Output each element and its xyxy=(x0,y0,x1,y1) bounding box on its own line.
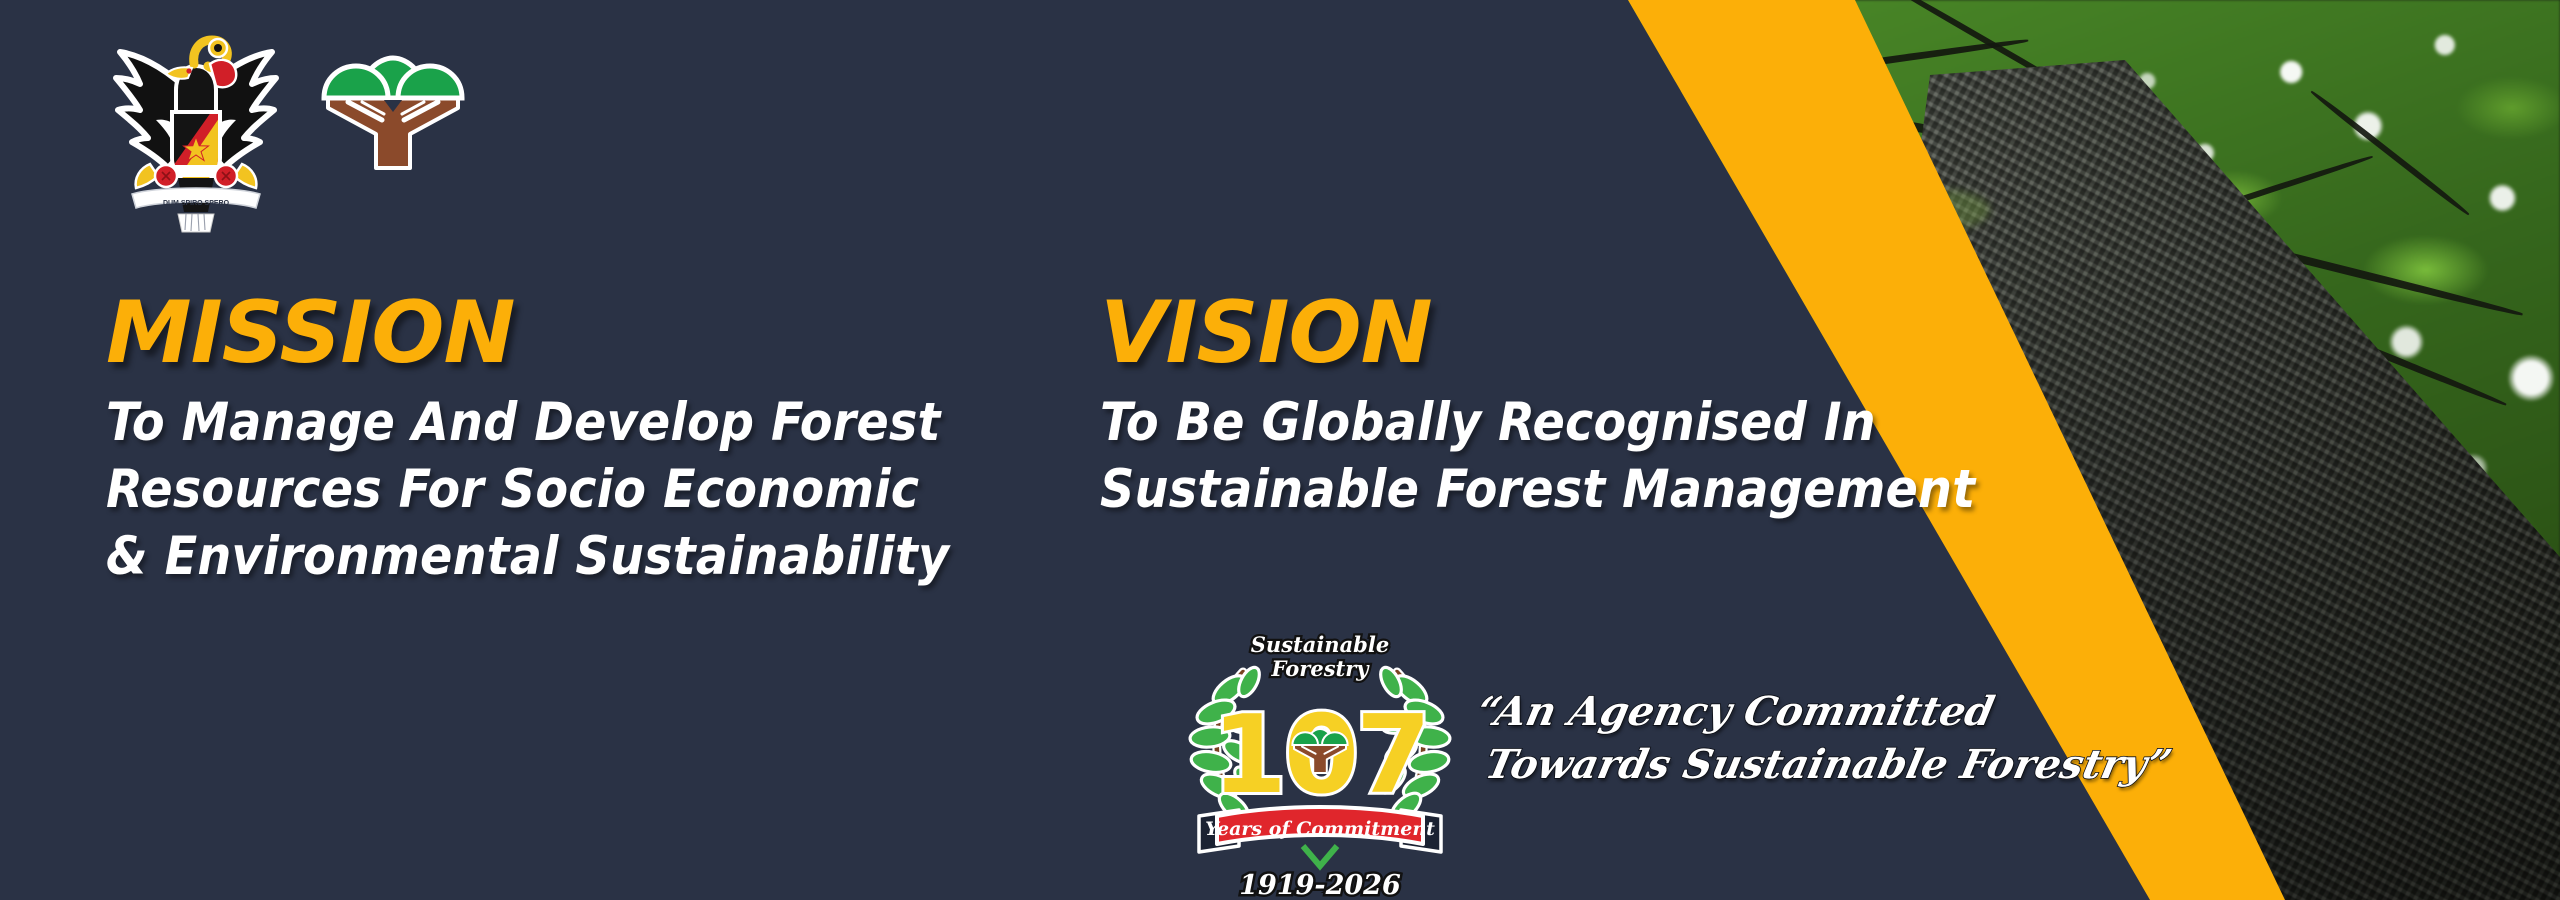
tagline: “An Agency Committed Towards Sustainable… xyxy=(1478,686,2098,792)
tagline-line-2: Towards Sustainable Forestry” xyxy=(1480,739,2103,792)
vision-line-2: Sustainable Forest Management xyxy=(1100,457,2120,524)
emblem-script-line-2: Forestry xyxy=(1271,656,1371,681)
mission-line-2: Resources For Socio Economic xyxy=(106,457,1006,524)
crest-motto: DUM SPIRO SPERO xyxy=(163,200,230,207)
sarawak-coat-of-arms-icon: DUM SPIRO SPERO xyxy=(96,16,296,241)
logo-row: DUM SPIRO SPERO xyxy=(96,16,468,241)
mission-line-1: To Manage And Develop Forest xyxy=(106,390,1006,457)
vision-heading: VISION xyxy=(1100,290,2120,376)
vision-block: VISION To Be Globally Recognised In Sust… xyxy=(1100,290,2120,524)
forest-department-tree-logo-icon xyxy=(318,16,468,171)
mission-vision-banner: DUM SPIRO SPERO MISSION To Manage And De… xyxy=(0,0,2560,900)
mission-line-3: & Environmental Sustainability xyxy=(106,524,1006,591)
anniversary-emblem: Sustainable Forestry 107 Years of xyxy=(1185,620,1455,900)
mission-heading: MISSION xyxy=(106,290,1006,376)
emblem-script-line-1: Sustainable xyxy=(1251,632,1389,657)
emblem-years: 1919-2026 xyxy=(1239,870,1401,900)
emblem-ribbon-text: Years of Commitment xyxy=(1205,818,1435,840)
mission-block: MISSION To Manage And Develop Forest Res… xyxy=(106,290,1006,590)
vision-line-1: To Be Globally Recognised In xyxy=(1100,390,2120,457)
tagline-line-1: “An Agency Committed xyxy=(1472,686,2103,739)
